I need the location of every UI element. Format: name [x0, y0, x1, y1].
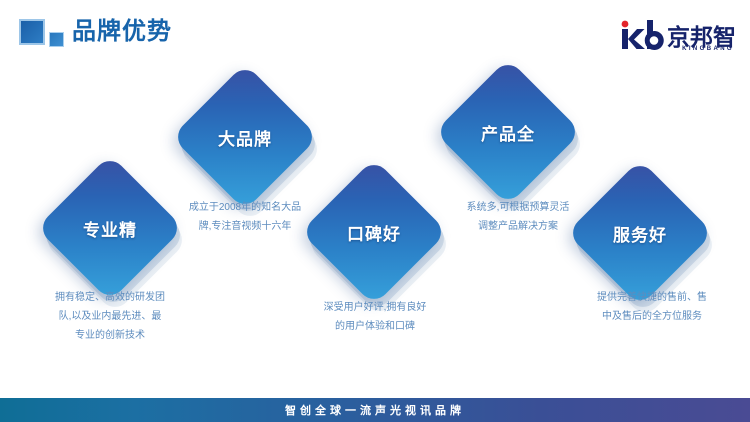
- diamond-label-1: 专业精: [58, 176, 162, 280]
- diamond-label-5: 服务好: [588, 181, 692, 285]
- logo-stack: 京邦智 KINGBANG: [618, 20, 736, 50]
- slide-root: 品牌优势 京邦智 KINGBANG 专业精 拥有稳定、高效的: [0, 0, 750, 422]
- brand-logo: 京邦智 KINGBANG: [618, 12, 736, 50]
- diamond-shape-1: 专业精: [58, 176, 162, 280]
- feature-node-1[interactable]: 专业精: [58, 176, 162, 280]
- logo-brand-en: KINGBANG: [682, 46, 734, 52]
- feature-node-4[interactable]: 产品全: [456, 80, 560, 184]
- diamond-shape-5: 服务好: [588, 181, 692, 285]
- footer-slogan: 智创全球一流声光视讯品牌: [285, 402, 465, 418]
- feature-desc-5: 提供完善快捷的售前、售 中及售后的全方位服务: [562, 288, 742, 326]
- diamond-shape-3: 口碑好: [322, 180, 426, 284]
- diamond-shape-4: 产品全: [456, 80, 560, 184]
- feature-desc-1: 拥有稳定、高效的研发团 队,以及业内最先进、最 专业的创新技术: [20, 288, 200, 345]
- decor-square-small-icon: [49, 32, 64, 47]
- page-title: 品牌优势: [72, 16, 172, 48]
- feature-node-5[interactable]: 服务好: [588, 181, 692, 285]
- slide-footer: 智创全球一流声光视讯品牌: [0, 398, 750, 422]
- diamond-label-4: 产品全: [456, 80, 560, 184]
- feature-node-2[interactable]: 大品牌: [193, 85, 297, 189]
- diamond-label-3: 口碑好: [322, 180, 426, 284]
- decor-square-large-icon: [19, 19, 45, 45]
- feature-desc-3: 深受用户好评,拥有良好 的用户体验和口碑: [285, 298, 465, 336]
- kb-logo-icon: [618, 20, 664, 50]
- diamond-label-2: 大品牌: [193, 85, 297, 189]
- diamond-shape-2: 大品牌: [193, 85, 297, 189]
- feature-node-3[interactable]: 口碑好: [322, 180, 426, 284]
